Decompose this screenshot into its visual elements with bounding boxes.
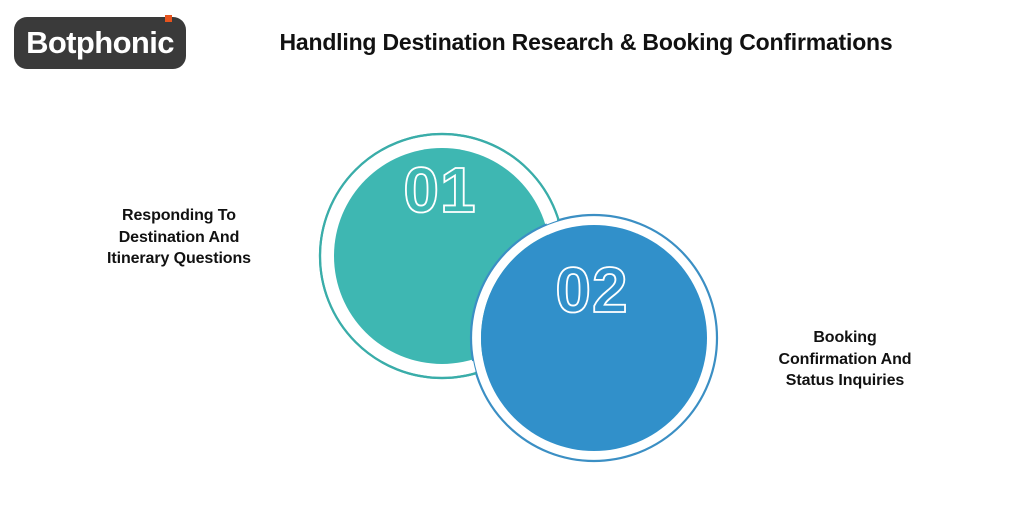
step-01-label-line-1: Responding To: [62, 205, 296, 227]
step-01-label-line-2: Destination And: [62, 227, 296, 249]
step-02-label-line-1: Booking: [728, 327, 962, 349]
step-02-number: 02: [555, 254, 628, 326]
step-02-label-line-2: Confirmation And: [728, 349, 962, 371]
step-01-label-line-3: Itinerary Questions: [62, 248, 296, 270]
step-02-circle-group[interactable]: 02: [471, 215, 717, 461]
step-02-label-line-3: Status Inquiries: [728, 370, 962, 392]
slide-canvas: Botphonic Handling Destination Research …: [0, 0, 1030, 532]
step-01-label: Responding To Destination And Itinerary …: [62, 205, 296, 270]
step-02-label: Booking Confirmation And Status Inquirie…: [728, 327, 962, 392]
step-01-number: 01: [403, 154, 476, 226]
